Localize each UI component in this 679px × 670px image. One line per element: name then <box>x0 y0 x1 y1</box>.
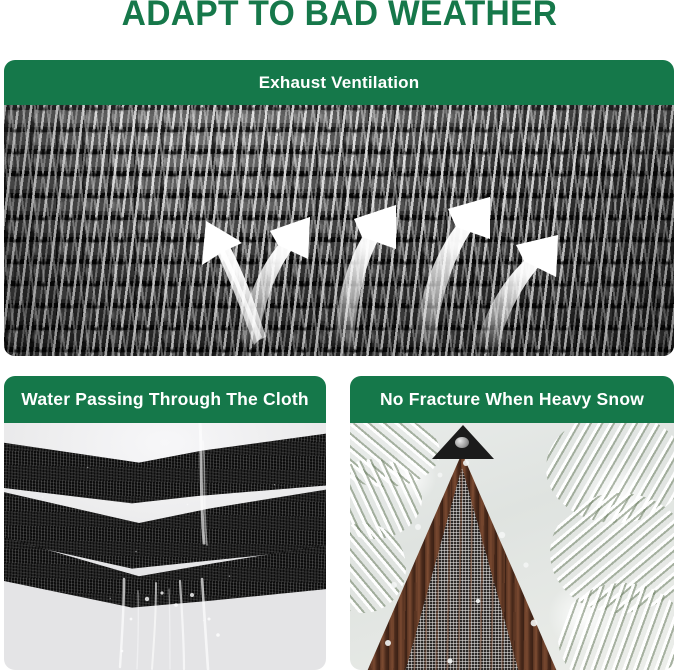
snow-fleck-overlay <box>350 423 674 670</box>
arrow-icon-4 <box>414 197 490 355</box>
panel-no-fracture-snow: No Fracture When Heavy Snow <box>350 376 674 670</box>
panel-header-label: Exhaust Ventilation <box>259 73 420 93</box>
panel-header-label: Water Passing Through The Cloth <box>21 389 309 410</box>
panel-image-water-passing <box>4 423 326 670</box>
panel-header-label: No Fracture When Heavy Snow <box>380 389 644 410</box>
panel-water-passing: Water Passing Through The Cloth <box>4 376 326 670</box>
airflow-arrows <box>4 105 674 356</box>
page-title: ADAPT TO BAD WEATHER <box>14 0 666 34</box>
panel-header-water-passing: Water Passing Through The Cloth <box>4 376 326 423</box>
arrow-icon-2 <box>238 217 310 351</box>
water-stream-icon <box>4 423 326 670</box>
panel-header-no-fracture-snow: No Fracture When Heavy Snow <box>350 376 674 423</box>
arrow-icon-3 <box>334 205 396 353</box>
panel-image-exhaust-ventilation <box>4 105 674 356</box>
arrow-icon-5 <box>474 235 558 355</box>
airflow-arrows-svg <box>4 105 674 356</box>
panel-header-exhaust-ventilation: Exhaust Ventilation <box>4 60 674 105</box>
promo-graphic: ADAPT TO BAD WEATHER Exhaust Ventilation <box>0 0 679 670</box>
panel-exhaust-ventilation: Exhaust Ventilation <box>4 60 674 356</box>
panel-image-no-fracture-snow <box>350 423 674 670</box>
